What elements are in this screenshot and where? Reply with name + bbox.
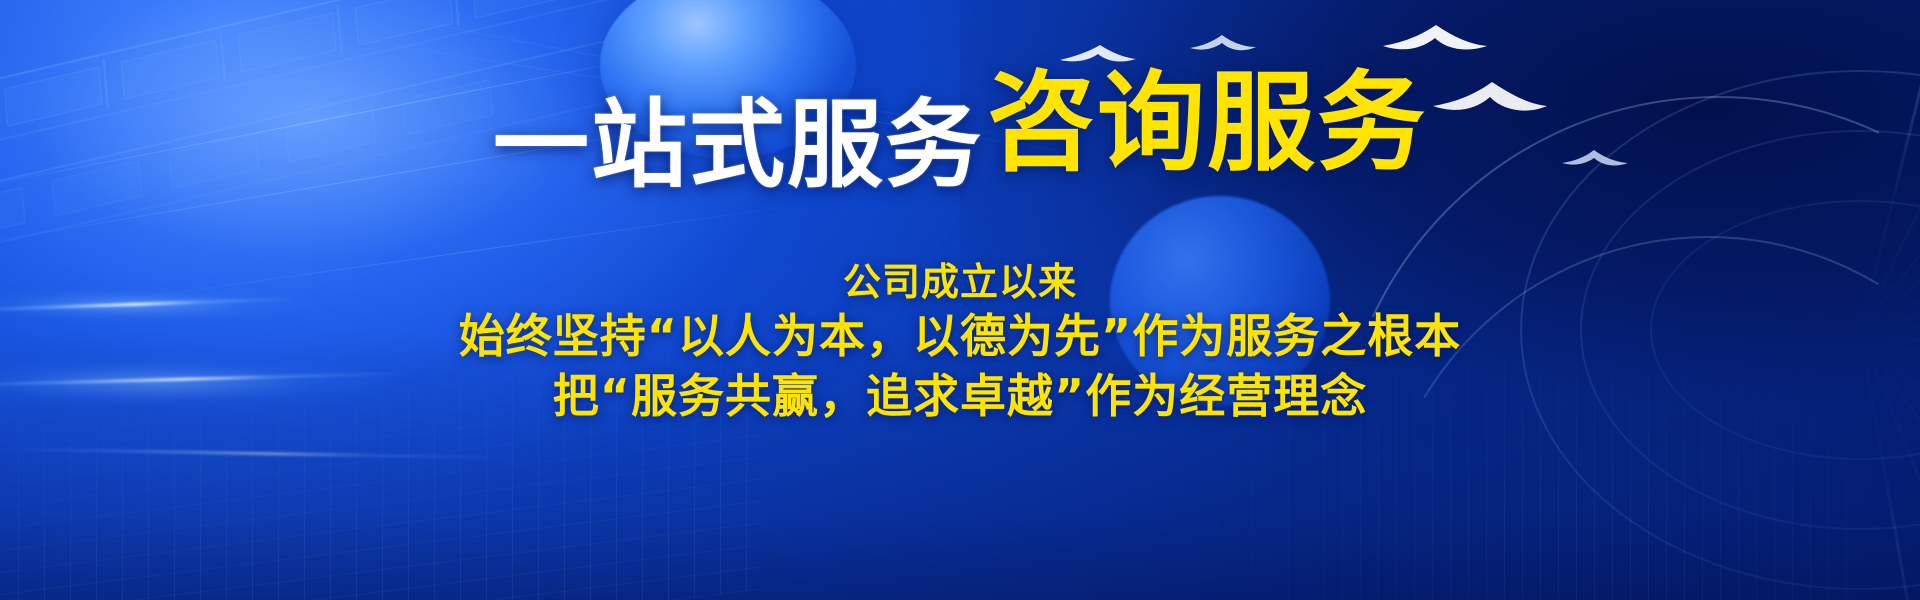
body-line-1: 公司成立以来: [0, 258, 1920, 307]
body-line-3: 把“服务共赢，追求卓越”作为经营理念: [0, 367, 1920, 427]
headline: 一站式服务咨询服务: [0, 88, 1920, 196]
body-line-2: 始终坚持“以人为本，以德为先”作为服务之根本: [0, 307, 1920, 367]
seagull-icon: [1380, 22, 1490, 56]
body-copy: 公司成立以来 始终坚持“以人为本，以德为先”作为服务之根本 把“服务共赢，追求卓…: [0, 258, 1920, 427]
headline-yellow-text: 咨询服务: [987, 61, 1427, 186]
promo-banner: 一站式服务咨询服务 公司成立以来 始终坚持“以人为本，以德为先”作为服务之根本 …: [0, 0, 1920, 600]
seagull-icon: [1188, 32, 1258, 56]
headline-white-text: 一站式服务: [493, 89, 983, 201]
